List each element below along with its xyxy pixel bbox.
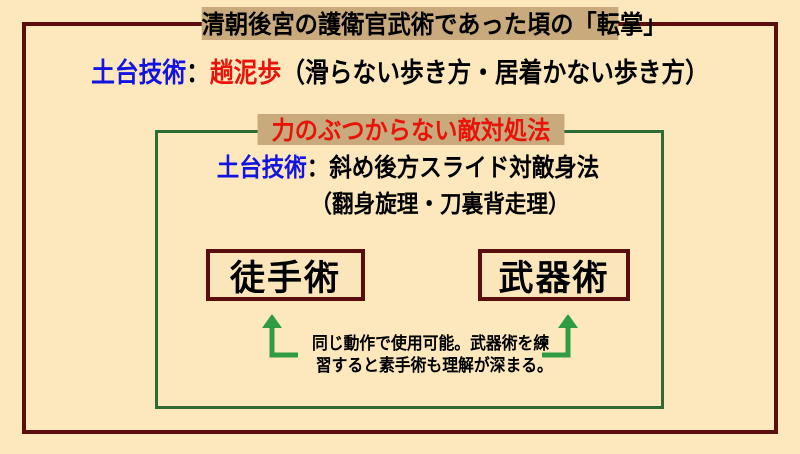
relationship-note-line-1: 同じ動作で使用可能。武器術を練 — [312, 333, 553, 355]
section-foundation-label: 土台技術 — [217, 153, 307, 182]
section-technique-detail: （翻身旋理・刀裏背走理） — [310, 192, 569, 216]
foundation-label: 土台技術 — [91, 58, 186, 89]
section-foundation-separator: ： — [307, 153, 330, 182]
technique-box-unarmed[interactable]: 徒手術 — [206, 249, 365, 301]
section-technique-line: 土台技術：斜め後方スライド対敵身法 — [217, 155, 600, 180]
page-title: 清朝後宮の護衛官武術であった頃の「転掌」 — [202, 7, 619, 40]
diagram-slide: 清朝後宮の護衛官武術であった頃の「転掌」 土台技術：趟泥歩（滑らない歩き方・居着… — [0, 0, 800, 454]
relationship-note-line-2: 習すると素手術も理解が深まる。 — [312, 355, 553, 377]
foundation-technique-name: 趟泥歩 — [210, 58, 281, 89]
section-title: 力のぶつからない敵対処法 — [258, 114, 565, 145]
foundation-technique-detail: （滑らない歩き方・居着かない歩き方） — [281, 58, 709, 89]
technique-box-weapon[interactable]: 武器術 — [478, 249, 630, 301]
arrow-up-left-elbow-icon — [258, 313, 300, 365]
foundation-separator: ： — [186, 58, 210, 89]
foundation-technique-line: 土台技術：趟泥歩（滑らない歩き方・居着かない歩き方） — [91, 60, 709, 87]
section-technique-name: 斜め後方スライド対敵身法 — [329, 153, 599, 182]
relationship-note: 同じ動作で使用可能。武器術を練 習すると素手術も理解が深まる。 — [312, 333, 553, 377]
